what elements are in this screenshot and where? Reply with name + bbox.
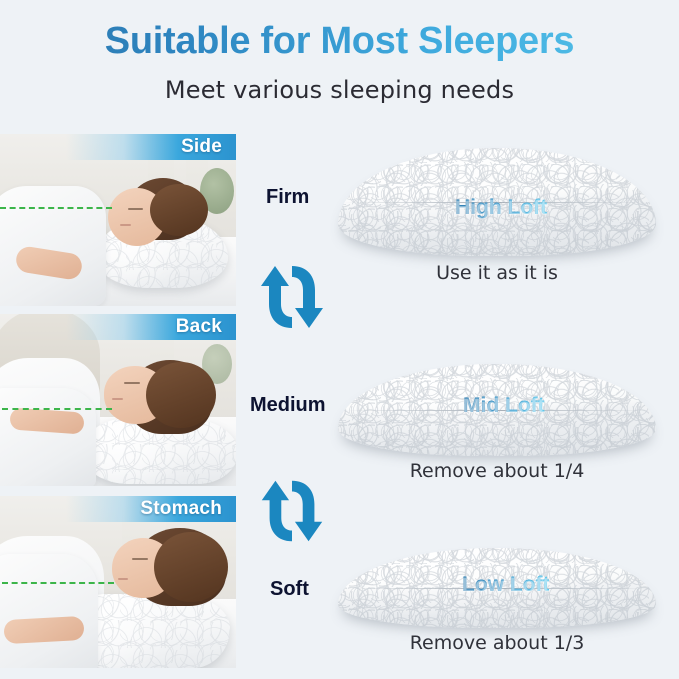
position-badge-stomach: Stomach	[66, 496, 236, 522]
position-badge-side: Side	[66, 134, 236, 160]
sleeper-body	[0, 388, 96, 486]
sleeper-photo-stomach: Stomach	[0, 496, 236, 668]
cycle-exchange-icon	[261, 258, 323, 336]
sleeper-eye	[128, 208, 143, 210]
spine-alignment-line	[0, 207, 112, 209]
sleeper-arm	[3, 616, 84, 644]
loft-caption-medium: Remove about 1/4	[338, 460, 656, 482]
sleeper-mouth	[120, 224, 131, 226]
infographic-canvas: Suitable for Most Sleepers Meet various …	[0, 0, 679, 679]
sleeper-body	[0, 554, 98, 668]
firmness-label-medium: Medium	[250, 394, 326, 417]
sleeper-eye	[132, 558, 148, 560]
page-subtitle: Meet various sleeping needs	[0, 76, 679, 104]
firmness-label-firm: Firm	[266, 186, 309, 209]
position-badge-label: Side	[181, 136, 222, 158]
loft-caption-firm: Use it as it is	[338, 262, 656, 284]
position-badge-label: Back	[176, 316, 222, 338]
sleeper-mouth	[118, 578, 128, 580]
spine-alignment-line	[2, 582, 114, 584]
sleeper-hair-back	[150, 184, 208, 236]
firmness-label-soft: Soft	[270, 578, 309, 601]
page-title: Suitable for Most Sleepers	[0, 20, 679, 63]
sleeper-photo-side: Side	[0, 134, 236, 306]
position-badge-back: Back	[66, 314, 236, 340]
sleeper-hair-back	[146, 362, 216, 428]
sleeper-eye	[124, 382, 140, 384]
loft-label-high: High Loft	[455, 196, 547, 220]
sleeper-photo-back: Back	[0, 314, 236, 486]
loft-caption-soft: Remove about 1/3	[338, 632, 656, 654]
cycle-exchange-icon	[261, 473, 323, 549]
loft-label-low: Low Loft	[462, 573, 549, 597]
loft-label-mid: Mid Loft	[463, 394, 545, 418]
sleeper-hair-back	[154, 532, 228, 602]
sleeper-mouth	[112, 398, 123, 400]
sleeper-body	[0, 186, 106, 306]
spine-alignment-line	[2, 408, 112, 410]
position-badge-label: Stomach	[140, 498, 222, 520]
